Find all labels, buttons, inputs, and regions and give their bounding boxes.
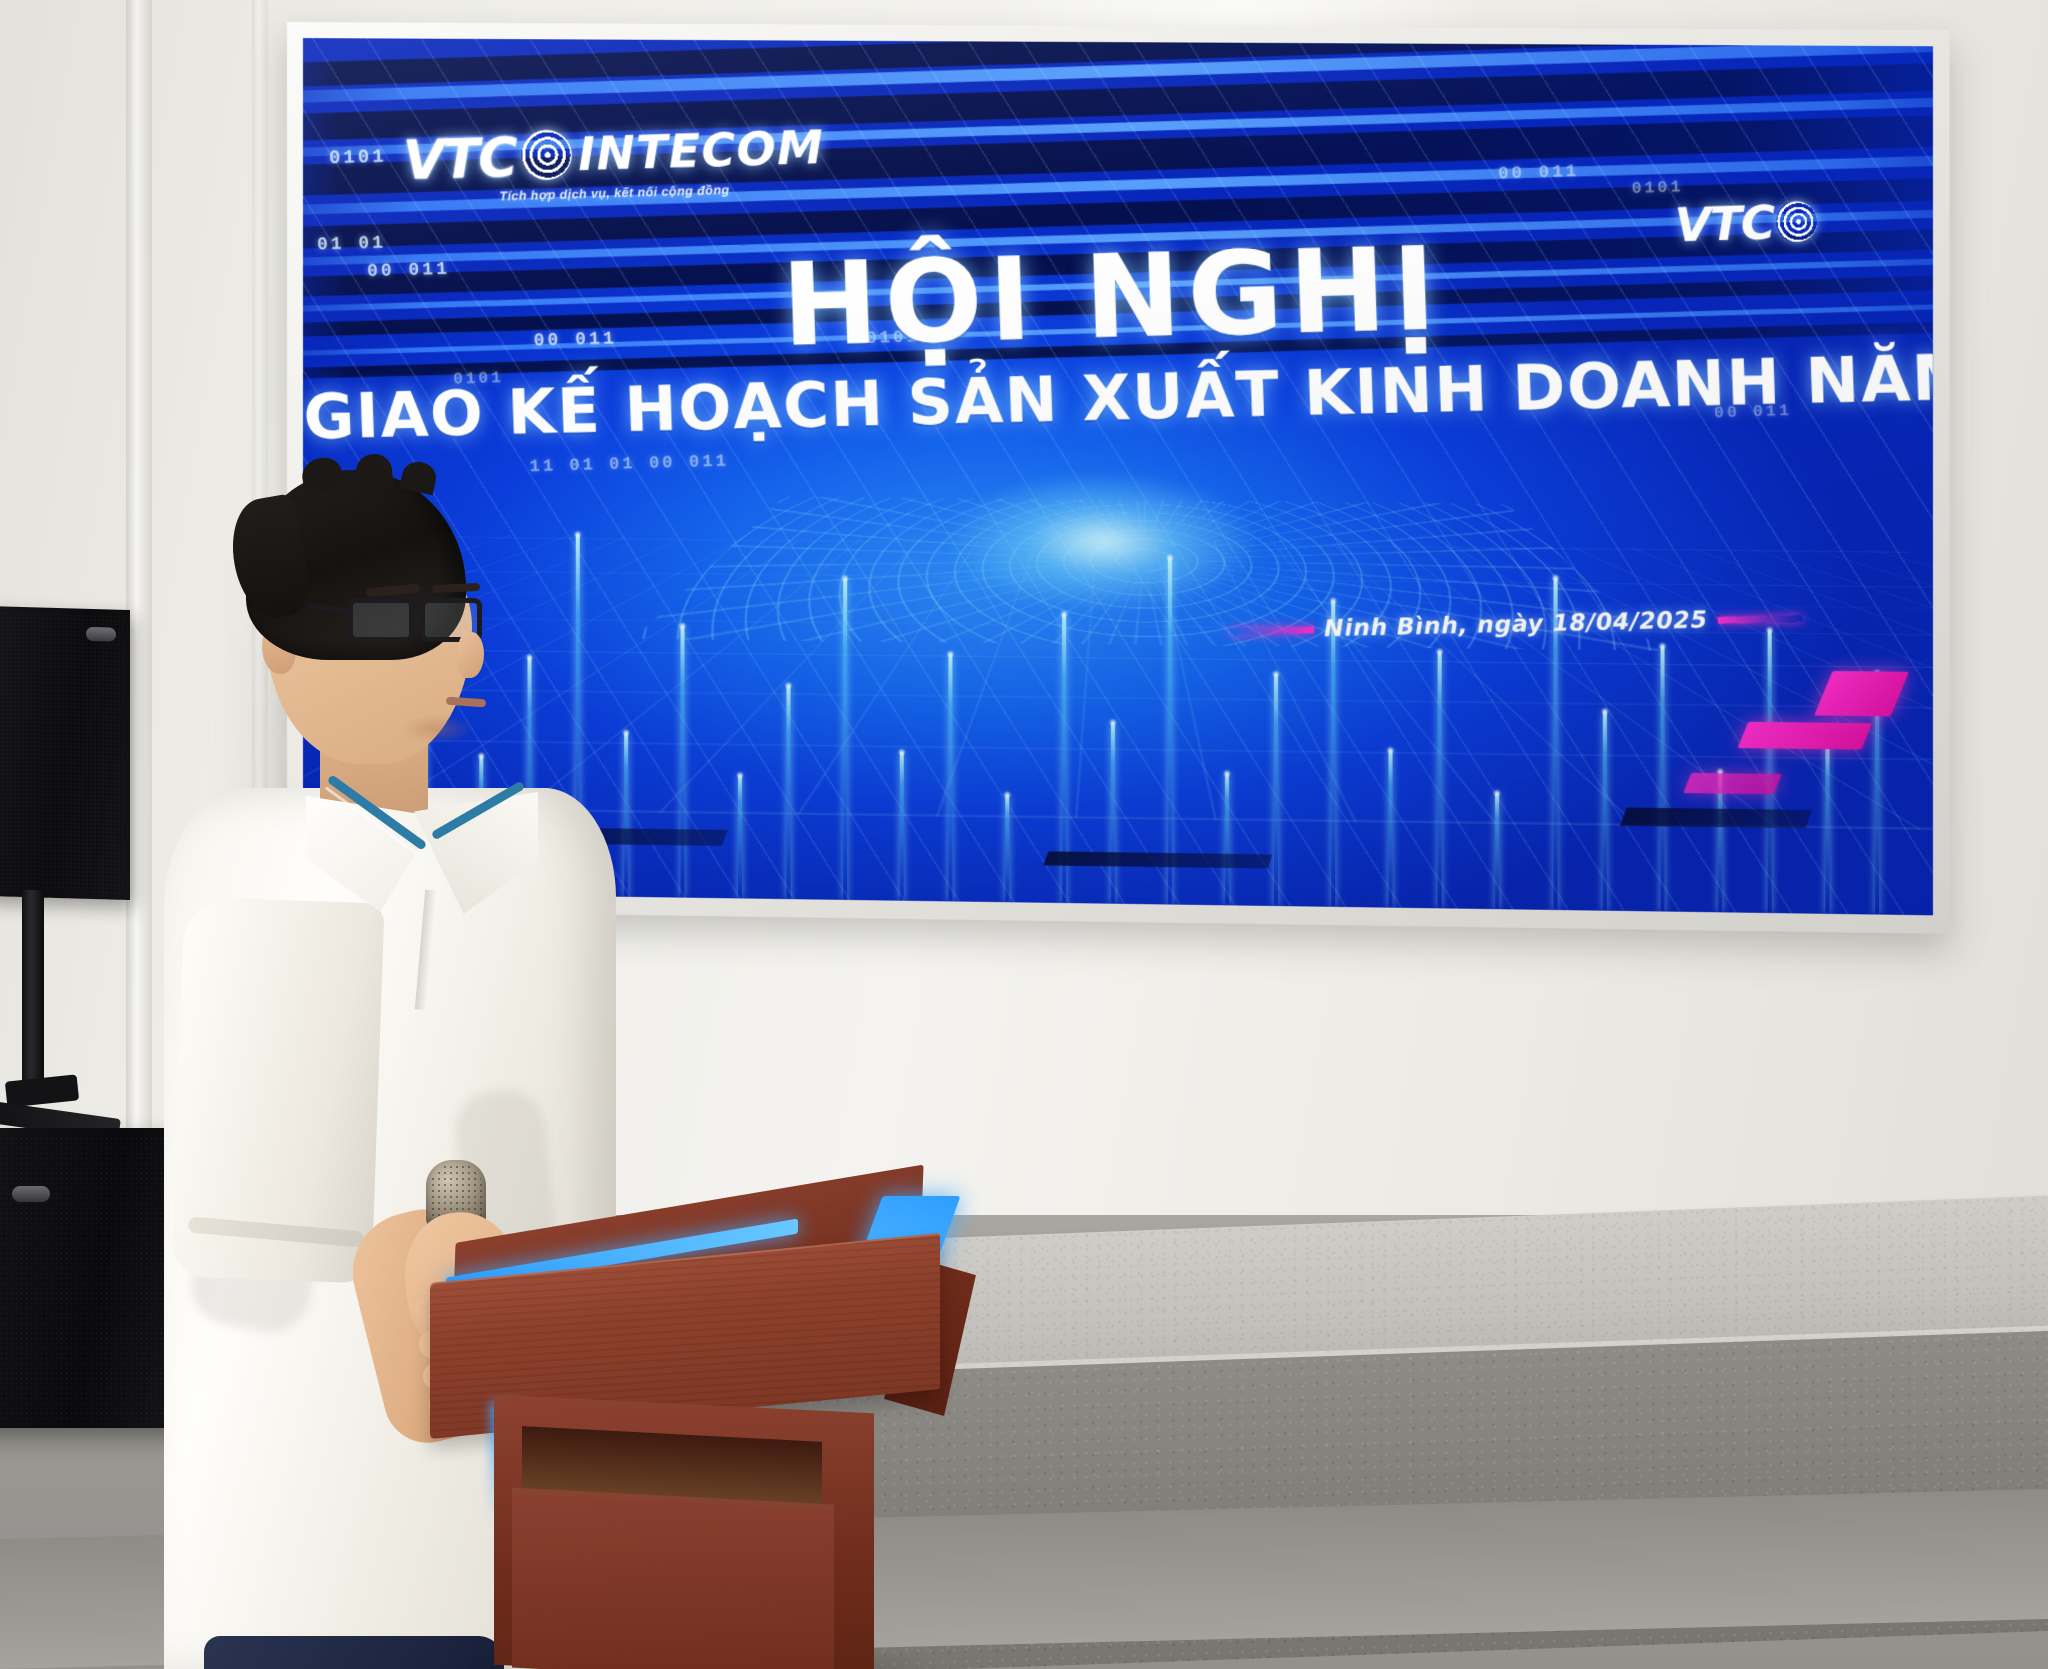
conference-photo-scene: 0101 01 01 00 011 00 011 0101 0101 11 01…	[0, 0, 2048, 1669]
binary-decoration: 00 011	[1498, 163, 1580, 185]
presenter-nose	[458, 632, 484, 678]
speaking-podium	[430, 1196, 1070, 1669]
dark-grid-block	[1620, 807, 1812, 828]
dark-grid-block	[1043, 851, 1272, 868]
intecom-wordmark: INTECOM	[577, 120, 825, 181]
date-dash-right	[1718, 614, 1803, 623]
binary-decoration: 0101	[329, 146, 387, 170]
binary-decoration: 0101	[1631, 178, 1684, 198]
pa-speaker-cabinet	[0, 606, 130, 900]
speaker-brand-badge	[86, 627, 116, 642]
glasses-lens-left	[348, 598, 414, 642]
vtc-wordmark: VTC	[402, 134, 516, 186]
magenta-accent-block	[1737, 722, 1872, 750]
date-dash-left	[1230, 626, 1314, 635]
speaker-stand-pole	[22, 890, 44, 1086]
vtc-spiral-icon	[521, 129, 573, 181]
face-shadow	[400, 714, 474, 744]
presenter-eyebrow	[432, 583, 480, 594]
podium-lower-panel	[512, 1488, 834, 1669]
speaker-brand-badge	[12, 1186, 50, 1202]
binary-decoration: 01 01	[317, 233, 387, 255]
magenta-accent-block	[1683, 773, 1782, 794]
